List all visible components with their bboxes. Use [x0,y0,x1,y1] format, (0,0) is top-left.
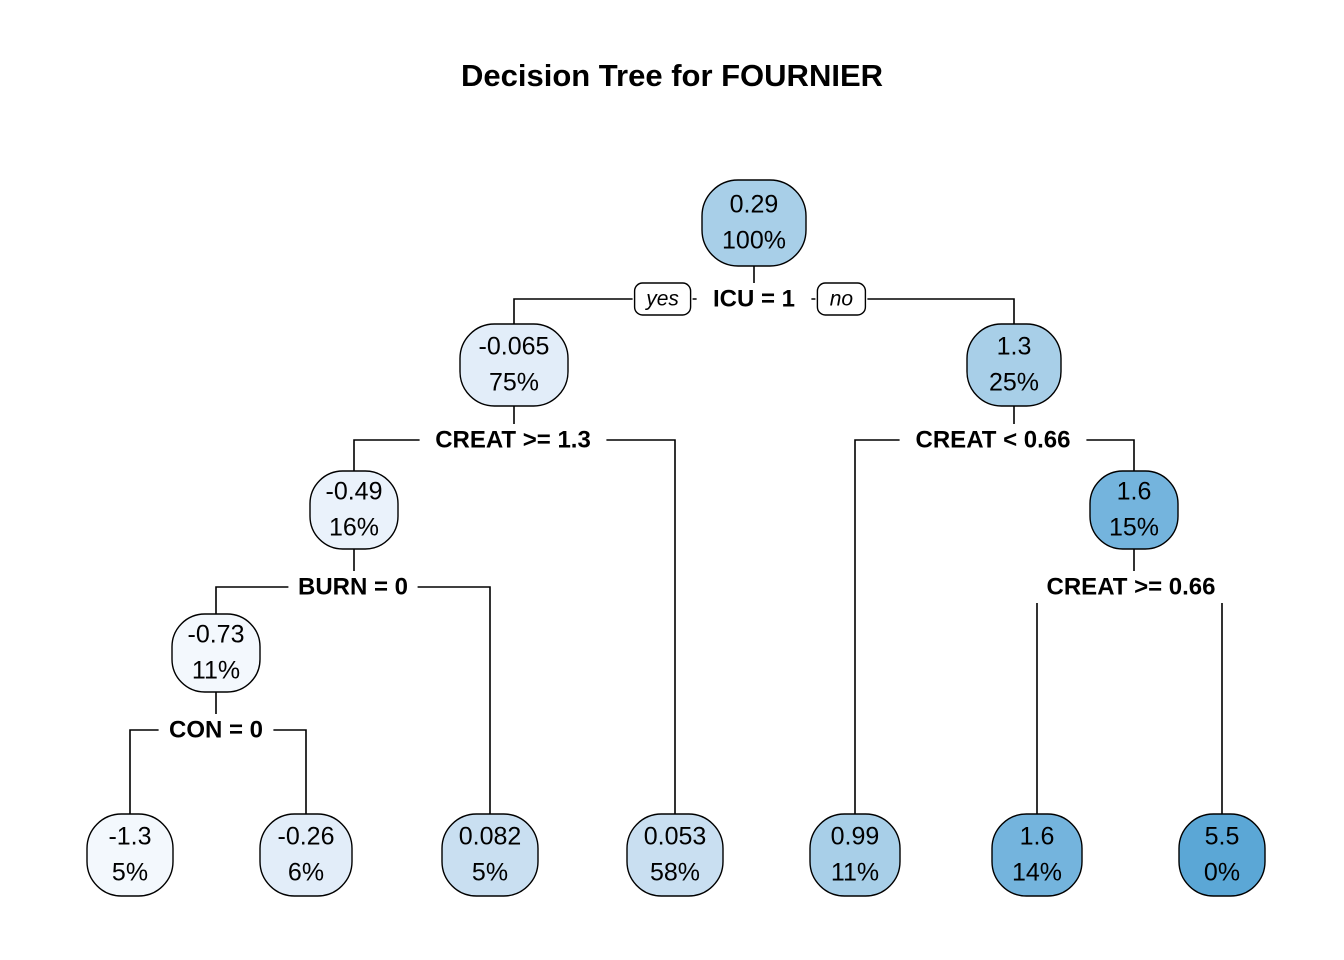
node-percent: 58% [650,859,700,887]
node-value: 0.99 [831,823,880,851]
split-condition[interactable]: BURN = 0 [288,571,417,603]
node-percent: 6% [288,859,324,887]
split-condition-label: BURN = 0 [298,573,408,600]
node-percent: 100% [722,227,786,255]
node-value: -0.065 [479,333,550,361]
tree-leaf-node[interactable]: 0.0825% [442,814,538,896]
node-percent: 0% [1204,859,1240,887]
yes-branch-label: yes [644,288,679,311]
tree-leaf-node[interactable]: 0.9911% [810,814,900,896]
tree-internal-node[interactable]: 1.325% [967,324,1061,406]
node-percent: 16% [329,514,379,542]
node-value: -0.26 [278,823,335,851]
tree-leaf-node[interactable]: 1.614% [992,814,1082,896]
node-value: -1.3 [108,823,151,851]
tree-internal-node[interactable]: -0.4916% [310,471,398,549]
node-value: 5.5 [1205,823,1240,851]
node-value: 0.29 [730,191,779,219]
node-percent: 75% [489,369,539,397]
tree-internal-node[interactable]: -0.06575% [460,324,568,406]
edge-left-branch [855,440,993,814]
tree-leaf-node[interactable]: -0.266% [260,814,352,896]
split-condition[interactable]: CREAT >= 1.3 [420,424,607,456]
node-percent: 5% [472,859,508,887]
node-percent: 14% [1012,859,1062,887]
node-value: 0.053 [644,823,707,851]
split-condition[interactable]: CON = 0 [159,714,274,746]
split-condition-label: CREAT < 0.66 [916,426,1071,453]
edge-right-branch [513,440,675,814]
node-value: 1.6 [1020,823,1055,851]
node-value: 0.082 [459,823,522,851]
tree-internal-node[interactable]: -0.7311% [172,614,260,692]
node-value: -0.73 [188,621,245,649]
split-condition[interactable]: CREAT < 0.66 [900,424,1087,456]
node-percent: 25% [989,369,1039,397]
tree-leaf-node[interactable]: 5.50% [1179,814,1265,896]
split-condition-label: ICU = 1 [713,285,795,312]
decision-tree-canvas: Decision Tree for FOURNIER 0.29100%-0.06… [0,0,1344,960]
split-condition-label: CON = 0 [169,716,263,743]
node-percent: 11% [831,859,879,887]
tree-internal-node[interactable]: 0.29100% [702,180,806,266]
node-percent: 15% [1109,514,1159,542]
tree-leaf-node[interactable]: 0.05358% [627,814,723,896]
tree-internal-node[interactable]: 1.615% [1090,471,1178,549]
edge-right-branch [353,587,490,814]
no-branch-label: no [830,288,854,311]
split-condition[interactable]: CREAT >= 0.66 [1030,571,1231,603]
decision-tree-graphic: 0.29100%-0.06575%1.325%-0.4916%1.615%-0.… [0,0,1344,960]
edge-left-branch [1037,587,1131,814]
node-percent: 5% [112,859,148,887]
split-condition[interactable]: yesnoICU = 1 [633,281,868,317]
split-condition-label: CREAT >= 0.66 [1047,573,1216,600]
node-value: 1.3 [997,333,1032,361]
node-value: 1.6 [1117,478,1152,506]
tree-leaf-node[interactable]: -1.35% [87,814,173,896]
split-condition-label: CREAT >= 1.3 [435,426,591,453]
edge-right-branch [1131,587,1222,814]
node-value: -0.49 [326,478,383,506]
node-percent: 11% [192,657,240,685]
